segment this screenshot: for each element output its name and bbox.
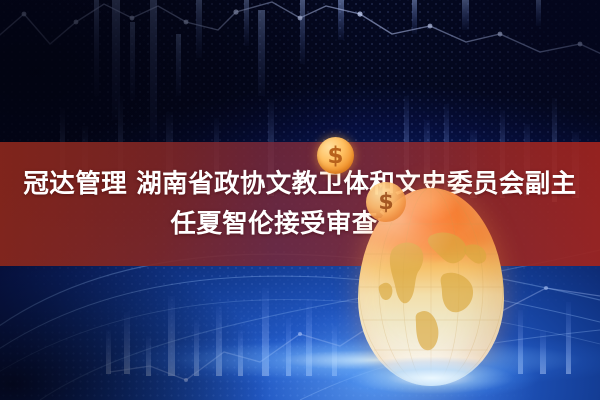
headline-banner: 冠达管理 湖南省政协文教卫体和文史委员会副主 任夏智伦接受审查调查 bbox=[0, 142, 600, 266]
dollar-coin-primary-icon: $ bbox=[317, 137, 354, 174]
headline-banner-content: 冠达管理 湖南省政协文教卫体和文史委员会副主 任夏智伦接受审查调查 bbox=[0, 142, 600, 266]
news-banner-image: $ 冠达管理 湖南省政协文教卫体和文史委员会副主 任夏智伦接受审查调查 $ bbox=[0, 0, 600, 400]
dollar-coin-secondary-icon: $ bbox=[366, 182, 406, 222]
